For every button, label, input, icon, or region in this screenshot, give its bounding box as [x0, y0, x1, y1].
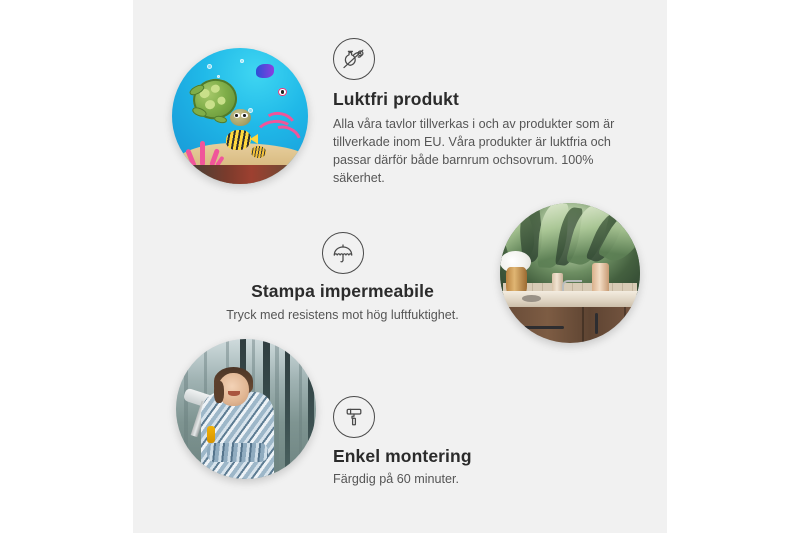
no-scent-icon — [333, 38, 375, 80]
vanity-cabinet — [508, 307, 640, 343]
turtle-icon — [191, 78, 252, 130]
feature-title: Enkel montering — [333, 446, 593, 467]
ocean-foreground-rock — [191, 165, 292, 184]
feature-odour-free: Luktfri produkt Alla våra tavlor tillver… — [333, 38, 618, 188]
product-image-bathroom-wallpaper[interactable] — [500, 203, 640, 343]
feature-title: Luktfri produkt — [333, 89, 618, 110]
paint-roller-icon — [333, 396, 375, 438]
coral-icon — [180, 126, 226, 167]
umbrella-icon — [322, 232, 364, 274]
product-feature-panel: Luktfri produkt Alla våra tavlor tillver… — [0, 0, 800, 533]
product-image-painter-forest[interactable] — [176, 339, 316, 479]
woman-hair-side — [214, 381, 224, 403]
bathroom-scene — [500, 203, 640, 343]
blue-fish-icon — [256, 64, 274, 78]
woman-arms — [207, 443, 269, 463]
painter-scene — [176, 339, 316, 479]
ocean-scene — [172, 48, 308, 184]
countertop — [500, 291, 640, 308]
small-fish-icon — [251, 146, 266, 158]
feature-description: Tryck med resistens mot hög luftfuktighe… — [200, 307, 485, 325]
bubble-icon — [240, 59, 244, 63]
feature-description: Alla våra tavlor tillverkas i och av pro… — [333, 116, 618, 188]
paint-roller-grip-icon — [207, 426, 215, 443]
feature-waterproof: Stampa impermeabile Tryck med resistens … — [200, 232, 485, 325]
feature-easy-mounting: Enkel montering Färgdig på 60 minuter. — [333, 396, 593, 489]
yellow-fish-icon — [226, 130, 250, 150]
product-image-ocean-mural[interactable] — [172, 48, 308, 184]
soap-dispenser-icon — [592, 263, 609, 294]
feature-description: Färgdig på 60 minuter. — [333, 471, 593, 489]
octopus-icon — [256, 81, 308, 149]
feature-title: Stampa impermeabile — [200, 281, 485, 302]
